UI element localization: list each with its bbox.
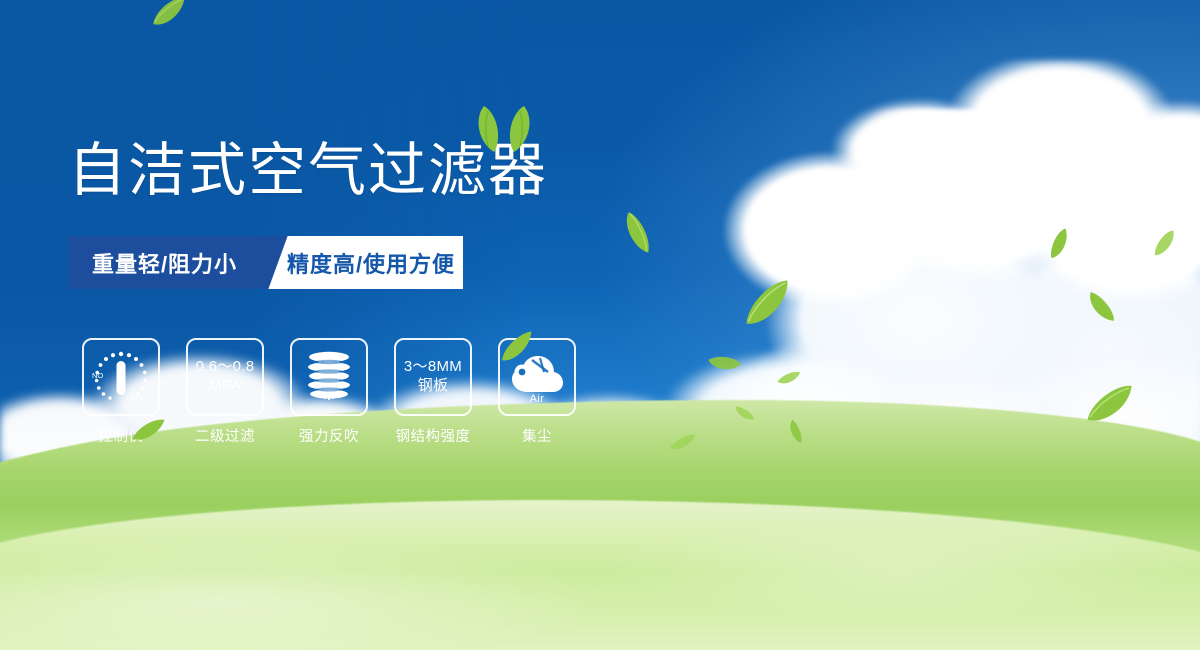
pressure-line-1: 0.6～0.8 (196, 358, 255, 377)
feature-icon-box: NO OFF (82, 338, 160, 416)
feature-icon-box: Air (498, 338, 576, 416)
tagline-right: 精度高/使用方便 (261, 236, 463, 289)
feature-item[interactable]: 强力反吹 (290, 338, 368, 446)
feature-label: 钢结构强度 (396, 425, 471, 446)
feature-label: 二级过滤 (195, 425, 255, 446)
svg-text:OFF: OFF (130, 393, 145, 402)
feature-list: NO OFF 控制仪 0.6～0.8 MPA 二级过滤 (82, 338, 576, 446)
hero-banner: 自洁式空气过滤器 重量轻/阻力小 精度高/使用方便 (0, 0, 1200, 650)
feature-icon-box (290, 338, 368, 416)
feature-item[interactable]: Air 集尘 (498, 338, 576, 446)
feature-icon-box: 0.6～0.8 MPA (186, 338, 264, 416)
feature-item[interactable]: 0.6～0.8 MPA 二级过滤 (186, 338, 264, 446)
sprout-leaves-icon (468, 102, 538, 159)
tagline-banner: 重量轻/阻力小 精度高/使用方便 (68, 236, 463, 289)
floating-leaf-icon (787, 418, 803, 445)
feature-label: 强力反吹 (299, 425, 359, 446)
air-cloud-icon (508, 352, 566, 394)
control-dial-icon: NO OFF (90, 348, 152, 406)
tagline-left: 重量轻/阻力小 (68, 236, 261, 289)
air-label: Air (500, 393, 574, 405)
svg-text:NO: NO (92, 371, 103, 380)
steel-line-1: 3～8MM (404, 358, 462, 377)
headline-block: 自洁式空气过滤器 (68, 142, 548, 200)
grass-highlight (0, 450, 1200, 650)
feature-label: 控制仪 (99, 425, 144, 446)
filter-cartridge-icon (302, 349, 356, 405)
feature-label: 集尘 (522, 425, 552, 446)
feature-item[interactable]: 3～8MM 钢板 钢结构强度 (394, 338, 472, 446)
steel-line-2: 钢板 (404, 377, 462, 396)
steel-plate-text-icon: 3～8MM 钢板 (404, 358, 462, 396)
pressure-text-icon: 0.6～0.8 MPA (196, 358, 255, 396)
feature-item[interactable]: NO OFF 控制仪 (82, 338, 160, 446)
feature-icon-box: 3～8MM 钢板 (394, 338, 472, 416)
pressure-line-2: MPA (196, 377, 255, 396)
